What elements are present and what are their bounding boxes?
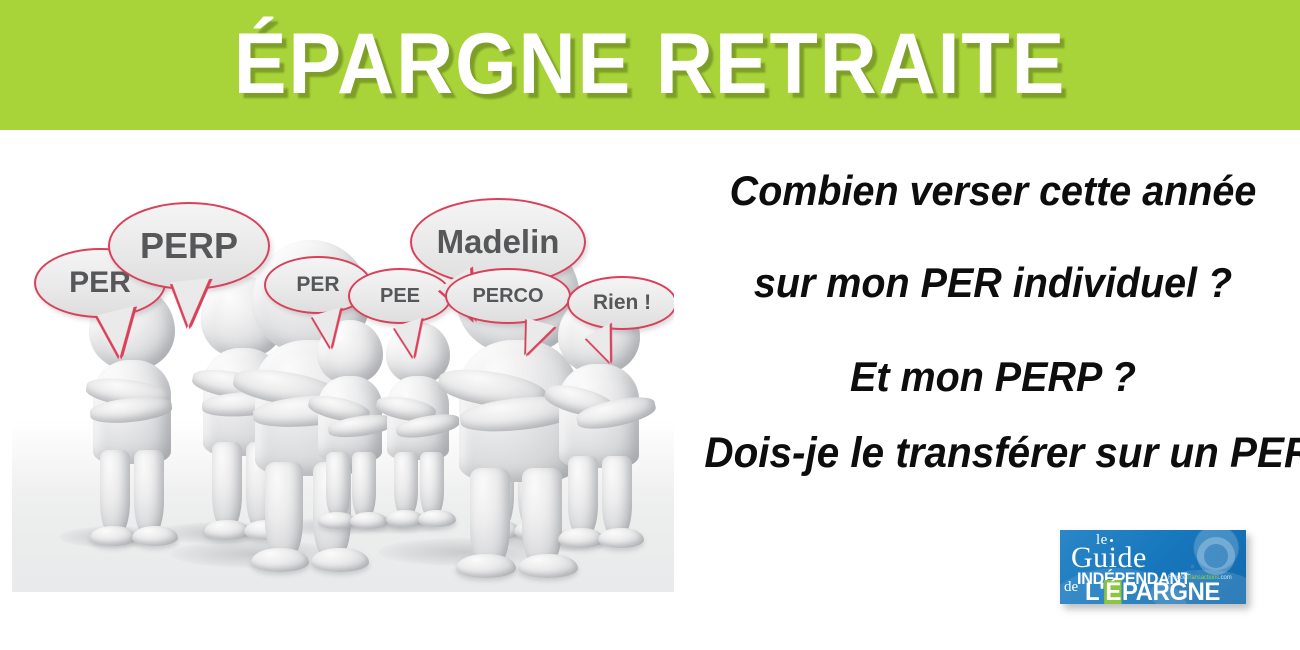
figure-foot bbox=[132, 526, 178, 546]
bubble-label: Rien ! bbox=[593, 291, 651, 315]
brand-logo[interactable]: le Guide INDÉPENDANT FranceTransactions.… bbox=[1060, 530, 1246, 604]
page-title: ÉPARGNE RETRAITE bbox=[52, 6, 1248, 122]
logo-epargne-rest: PARGNE bbox=[1122, 578, 1220, 604]
bubble-label: PER bbox=[296, 273, 339, 297]
figure-leg bbox=[602, 456, 632, 536]
question-block: Combien verser cette année sur mon PER i… bbox=[686, 150, 1300, 530]
logo-epargne-text: L'ÉPARGNE bbox=[1085, 580, 1220, 604]
logo-epargne-accent: É bbox=[1104, 580, 1121, 604]
figure-leg bbox=[134, 450, 164, 534]
question-line-4: Dois-je le transférer sur un PER ? bbox=[704, 422, 1281, 484]
illustration-panel: PER PERP PER PEE Madelin PERCO bbox=[12, 140, 674, 592]
poster-root: ÉPARGNE RETRAITE bbox=[0, 0, 1300, 650]
bubble-tail bbox=[172, 278, 215, 328]
bubble-label: PERCO bbox=[472, 285, 543, 308]
bubble-perco: PERCO bbox=[445, 268, 571, 324]
figure-leg bbox=[265, 462, 303, 558]
figure-leg bbox=[394, 452, 418, 516]
logo-epargne-prefix: L' bbox=[1085, 578, 1104, 604]
figure-foot bbox=[456, 554, 516, 578]
figure-foot bbox=[311, 548, 369, 572]
figure-foot bbox=[90, 526, 136, 546]
figure-foot bbox=[251, 548, 309, 572]
figure-leg bbox=[470, 468, 510, 566]
header-banner: ÉPARGNE RETRAITE bbox=[0, 0, 1300, 130]
logo-de-text: de bbox=[1064, 580, 1078, 595]
bubble-perp: PERP bbox=[108, 202, 270, 290]
bubble-label: PEE bbox=[380, 285, 420, 308]
bubble-label: PERP bbox=[140, 225, 238, 267]
france-transactions-icon bbox=[1186, 564, 1199, 575]
figure-leg bbox=[326, 452, 350, 518]
figure-leg bbox=[352, 452, 376, 518]
figure-leg bbox=[100, 450, 130, 534]
figure-leg bbox=[568, 456, 598, 536]
figure-foot bbox=[598, 528, 644, 548]
logo-watermark-com: .com bbox=[1219, 575, 1232, 581]
figure-foot bbox=[518, 554, 578, 578]
bubble-rien: Rien ! bbox=[567, 276, 674, 330]
question-line-1: Combien verser cette année bbox=[704, 160, 1281, 222]
question-line-3: Et mon PERP ? bbox=[704, 346, 1281, 408]
logo-ring-icon bbox=[1197, 537, 1235, 575]
question-line-2: sur mon PER individuel ? bbox=[704, 252, 1281, 314]
bubble-pee: PEE bbox=[348, 268, 452, 324]
bubble-label: Madelin bbox=[437, 223, 560, 261]
